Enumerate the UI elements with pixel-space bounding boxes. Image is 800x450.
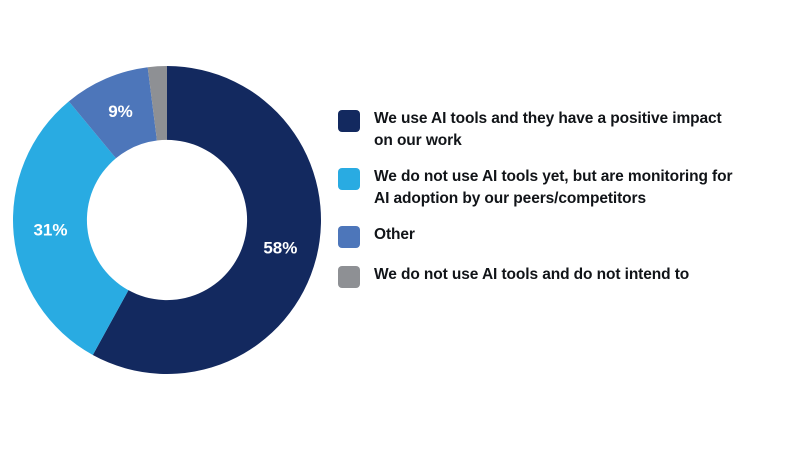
legend-label-monitoring: We do not use AI tools yet, but are moni…	[374, 166, 732, 210]
donut-slice-value: 31%	[33, 220, 67, 239]
legend-swatch-cyan	[338, 168, 360, 190]
legend-label-line1: We do not use AI tools and do not intend…	[374, 264, 689, 286]
legend-item-monitoring[interactable]: We do not use AI tools yet, but are moni…	[338, 166, 788, 210]
legend-item-no-intent[interactable]: We do not use AI tools and do not intend…	[338, 264, 788, 288]
legend-label-line1: We use AI tools and they have a positive…	[374, 108, 722, 130]
donut-chart-figure: 58%31%9%2% We use AI tools and they have…	[0, 0, 800, 450]
donut-chart: 58%31%9%2%	[10, 63, 324, 377]
legend-label-no-intent: We do not use AI tools and do not intend…	[374, 264, 689, 286]
legend-swatch-navy	[338, 110, 360, 132]
donut-slice-value: 9%	[108, 102, 133, 121]
legend-item-positive-impact[interactable]: We use AI tools and they have a positive…	[338, 108, 788, 152]
legend-label-line1: We do not use AI tools yet, but are moni…	[374, 166, 732, 188]
donut-svg: 58%31%9%2%	[10, 63, 324, 377]
legend-label-line2: AI adoption by our peers/competitors	[374, 188, 732, 210]
donut-slice-value: 58%	[263, 239, 297, 258]
chart-legend: We use AI tools and they have a positive…	[338, 108, 788, 302]
legend-label-line2: on our work	[374, 130, 722, 152]
legend-label-line1: Other	[374, 224, 415, 246]
legend-swatch-blue	[338, 226, 360, 248]
legend-item-other[interactable]: Other	[338, 224, 788, 248]
legend-label-other: Other	[374, 224, 415, 246]
legend-swatch-gray	[338, 266, 360, 288]
legend-label-positive-impact: We use AI tools and they have a positive…	[374, 108, 722, 152]
